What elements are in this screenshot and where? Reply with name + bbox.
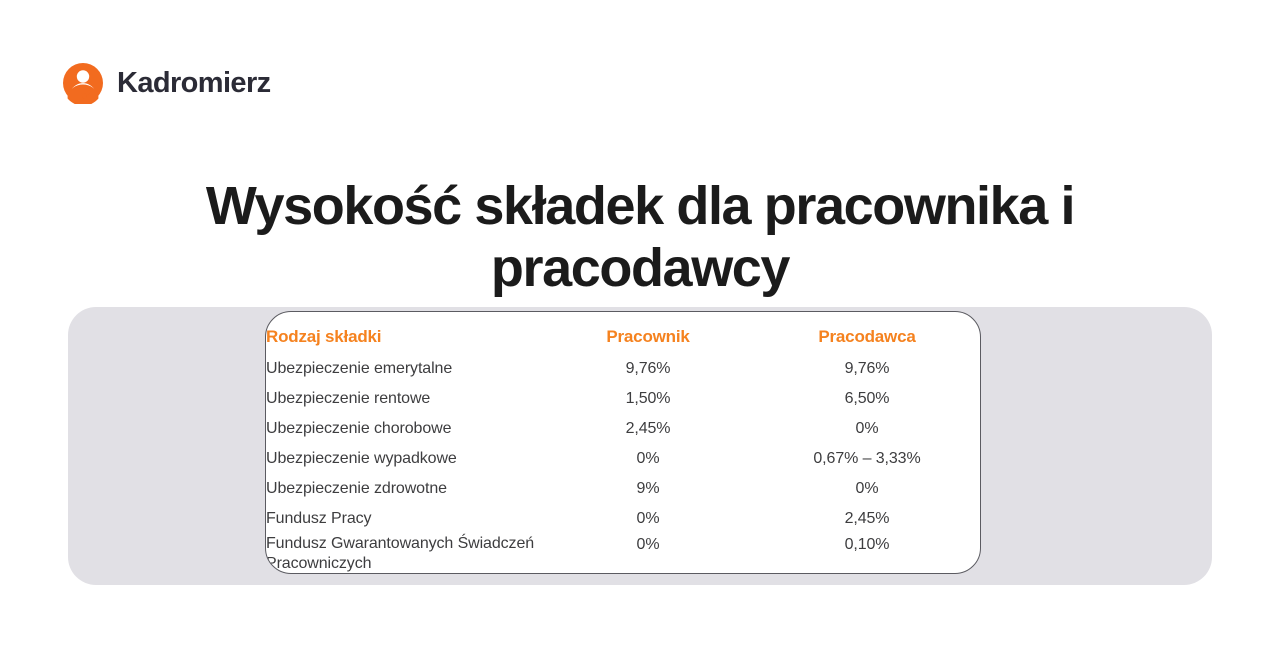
cell-contribution-name: Ubezpieczenie emerytalne bbox=[266, 354, 544, 384]
cell-contribution-name: Fundusz Gwarantowanych Świadczeń Pracown… bbox=[266, 534, 544, 574]
column-header-contribution-type: Rodzaj składki bbox=[266, 320, 544, 354]
cell-employee-rate: 9% bbox=[544, 474, 752, 504]
cell-contribution-name: Ubezpieczenie chorobowe bbox=[266, 414, 544, 444]
cell-employee-rate: 1,50% bbox=[544, 384, 752, 414]
cell-contribution-name: Ubezpieczenie wypadkowe bbox=[266, 444, 544, 474]
table-row: Fundusz Pracy 0% 2,45% bbox=[266, 504, 981, 534]
column-header-employer: Pracodawca bbox=[752, 320, 981, 354]
table-row: Fundusz Gwarantowanych Świadczeń Pracown… bbox=[266, 534, 981, 574]
cell-employee-rate: 0% bbox=[544, 444, 752, 474]
cell-employee-rate: 0% bbox=[544, 534, 752, 574]
cell-employee-rate: 9,76% bbox=[544, 354, 752, 384]
page-title: Wysokość składek dla pracownika i pracod… bbox=[150, 176, 1130, 299]
table-header: Rodzaj składki Pracownik Pracodawca bbox=[266, 320, 981, 354]
cell-employer-rate: 0,10% bbox=[752, 534, 981, 574]
cell-contribution-name: Ubezpieczenie zdrowotne bbox=[266, 474, 544, 504]
table-row: Ubezpieczenie rentowe 1,50% 6,50% bbox=[266, 384, 981, 414]
rates-table-card: Rodzaj składki Pracownik Pracodawca Ubez… bbox=[265, 311, 981, 574]
cell-contribution-name: Fundusz Pracy bbox=[266, 504, 544, 534]
column-header-employee: Pracownik bbox=[544, 320, 752, 354]
cell-employer-rate: 0% bbox=[752, 474, 981, 504]
table-row: Ubezpieczenie emerytalne 9,76% 9,76% bbox=[266, 354, 981, 384]
cell-employer-rate: 0% bbox=[752, 414, 981, 444]
cell-employer-rate: 0,67% – 3,33% bbox=[752, 444, 981, 474]
table-row: Ubezpieczenie wypadkowe 0% 0,67% – 3,33% bbox=[266, 444, 981, 474]
table-row: Ubezpieczenie zdrowotne 9% 0% bbox=[266, 474, 981, 504]
cell-employee-rate: 2,45% bbox=[544, 414, 752, 444]
cell-employee-rate: 0% bbox=[544, 504, 752, 534]
brand-logo: Kadromierz bbox=[62, 62, 271, 104]
table-body: Ubezpieczenie emerytalne 9,76% 9,76% Ube… bbox=[266, 354, 981, 574]
brand-name: Kadromierz bbox=[117, 69, 271, 98]
cell-employer-rate: 2,45% bbox=[752, 504, 981, 534]
table-row: Ubezpieczenie chorobowe 2,45% 0% bbox=[266, 414, 981, 444]
cell-employer-rate: 9,76% bbox=[752, 354, 981, 384]
cell-contribution-name: Ubezpieczenie rentowe bbox=[266, 384, 544, 414]
cell-employer-rate: 6,50% bbox=[752, 384, 981, 414]
table-header-row: Rodzaj składki Pracownik Pracodawca bbox=[266, 320, 981, 354]
kadromierz-logo-icon bbox=[62, 62, 104, 104]
rates-table: Rodzaj składki Pracownik Pracodawca Ubez… bbox=[266, 320, 981, 574]
